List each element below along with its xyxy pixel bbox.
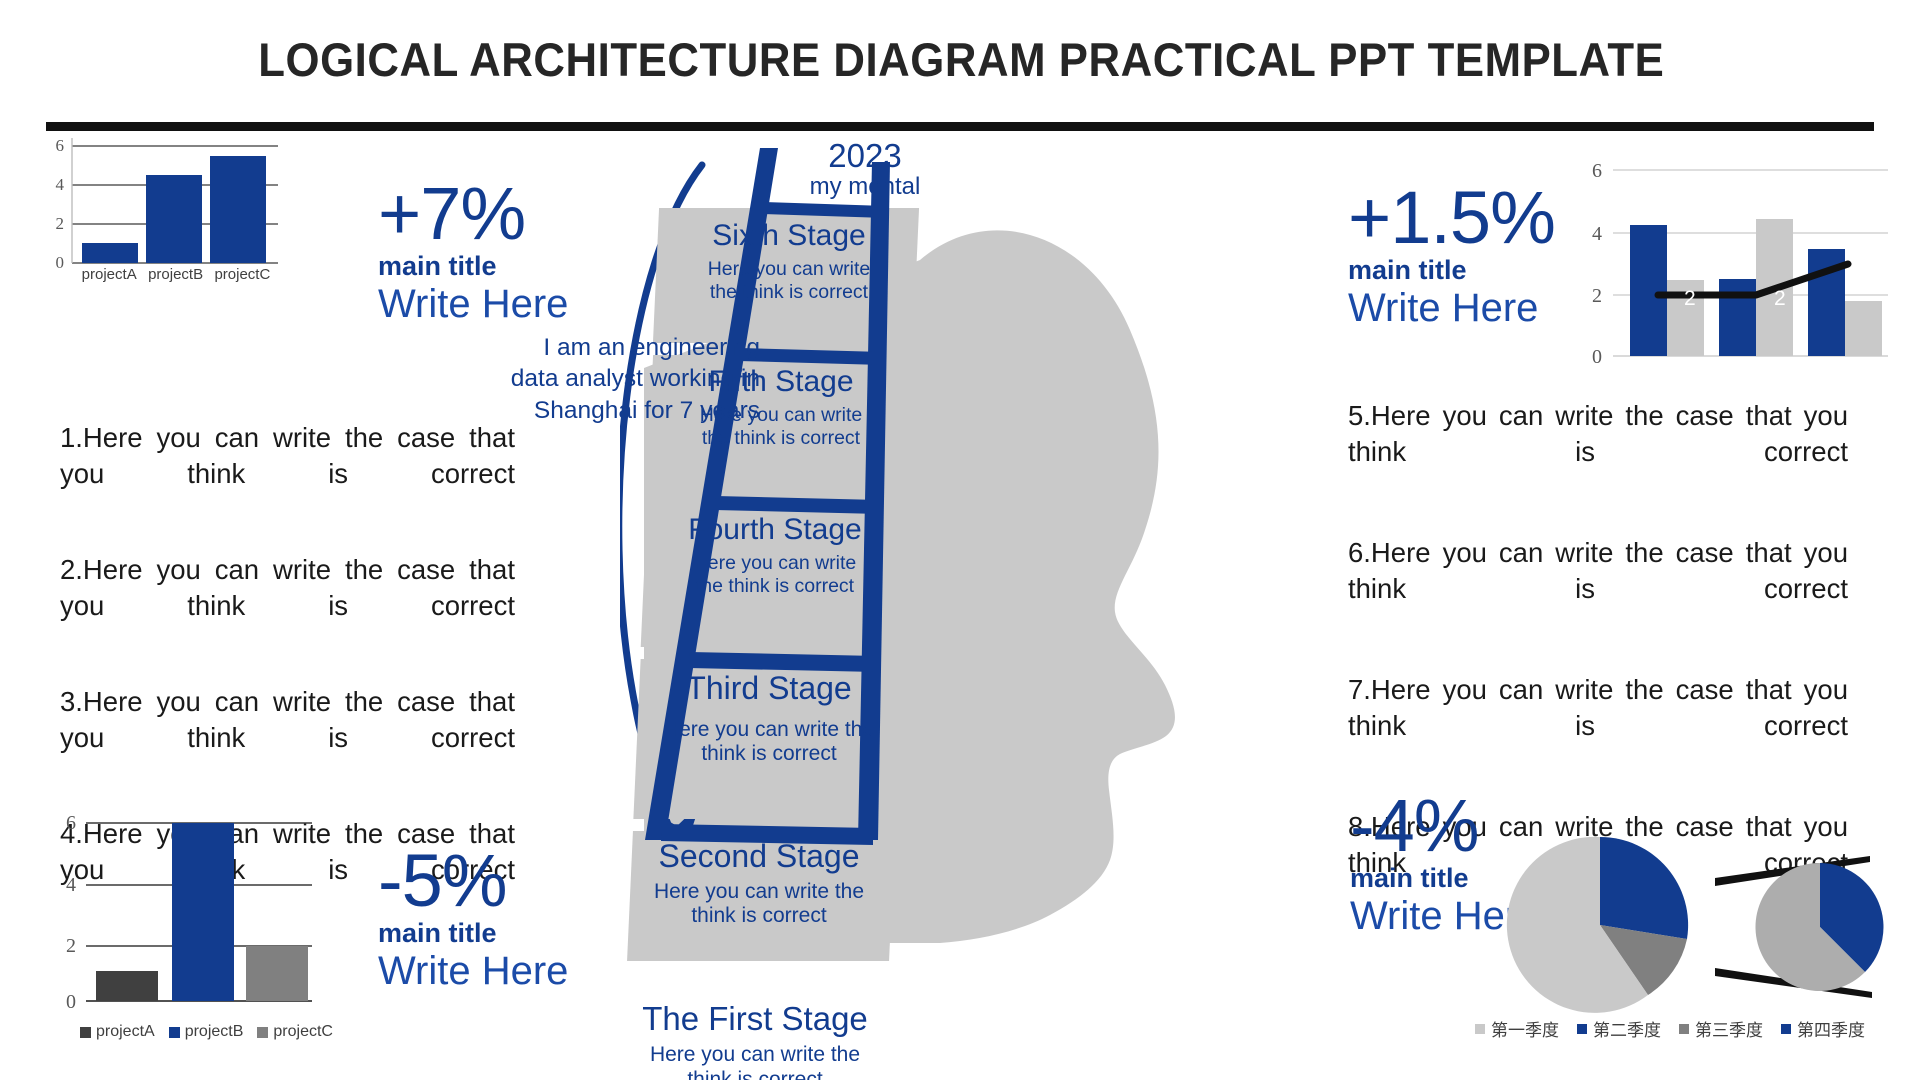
list-item: 5.Here you can write the case that you t… (1348, 398, 1848, 507)
legend-item: 第四季度 (1781, 1016, 1865, 1041)
chart-bottom-right-pie: 第一季度 第二季度 第三季度 第四季度 (1480, 820, 1900, 1060)
legend-label: 第一季度 (1491, 1016, 1559, 1041)
legend-label: projectA (96, 1023, 155, 1041)
chart-top-right-combo: 2 2 3 6 4 2 0 (1558, 148, 1898, 363)
stat-bottom-left-percent: -5% (378, 845, 568, 916)
svg-text:2: 2 (56, 214, 65, 233)
svg-text:2: 2 (1592, 285, 1602, 307)
ladder-step-title: The First Stage (620, 1002, 890, 1037)
stat-top-left: +7% main title Write Here (378, 178, 568, 327)
svg-text:4: 4 (66, 874, 76, 896)
list-item: 1.Here you can write the case that you t… (60, 420, 515, 529)
legend-swatch-icon (1781, 1024, 1791, 1034)
ladder-step-6: Sixth Stage Here you can write the think… (664, 220, 914, 303)
cat-label-projectB: projectB (148, 266, 203, 283)
legend-label: projectB (185, 1023, 244, 1041)
ladder-step-body: Here you can write the think is correct (620, 1043, 890, 1080)
legend-item: 第二季度 (1577, 1016, 1661, 1041)
ladder-step-3: Third Stage Here you can write the think… (640, 672, 898, 767)
stat-top-right-write-here: Write Here (1348, 286, 1555, 331)
ladder-diagram: 2023 my mental I am an engineering data … (620, 140, 1320, 1070)
ladder-step-title: Fourth Stage (648, 514, 902, 546)
ladder-step-body: Here you can write the think is correct (664, 258, 914, 304)
svg-text:2: 2 (1774, 287, 1786, 310)
list-item: 2.Here you can write the case that you t… (60, 552, 515, 661)
legend-label: 第二季度 (1593, 1016, 1661, 1041)
ladder-step-title: Third Stage (640, 672, 898, 706)
stat-bottom-left-write-here: Write Here (378, 949, 568, 994)
svg-text:0: 0 (56, 253, 65, 268)
svg-text:2: 2 (1684, 287, 1696, 310)
svg-text:6: 6 (66, 812, 76, 834)
ladder-year: 2023 (760, 138, 970, 174)
svg-text:6: 6 (1592, 160, 1602, 182)
stat-top-right: +1.5% main title Write Here (1348, 182, 1555, 331)
svg-text:3: 3 (1854, 270, 1866, 293)
stat-top-right-percent: +1.5% (1348, 182, 1555, 253)
stat-bottom-left-main-title: main title (378, 918, 568, 949)
ladder-step-1: The First Stage Here you can write the t… (620, 1002, 890, 1080)
slide-canvas: LOGICAL ARCHITECTURE DIAGRAM PRACTICAL P… (0, 0, 1920, 1080)
title-divider (46, 122, 1874, 131)
ladder-step-4: Fourth Stage Here you can write the thin… (648, 514, 902, 597)
stat-bottom-left: -5% main title Write Here (378, 845, 568, 994)
list-item: 7.Here you can write the case that you t… (1348, 672, 1848, 781)
legend-item: projectA (80, 1023, 155, 1041)
svg-text:4: 4 (1592, 223, 1602, 245)
list-item: 3.Here you can write the case that you t… (60, 684, 515, 793)
chart-top-left-bar: 6 4 2 0 projectA projectB projectC (26, 138, 286, 268)
ladder-step-title: Fifth Stage (656, 366, 906, 398)
stat-top-left-write-here: Write Here (378, 282, 568, 327)
pie-main (1507, 837, 1688, 1013)
legend-swatch-icon (1577, 1024, 1587, 1034)
legend-item: 第三季度 (1679, 1016, 1763, 1041)
ladder-step-body: Here you can write the think is correct (648, 552, 902, 598)
ladder-step-title: Sixth Stage (664, 220, 914, 252)
ladder-step-2: Second Stage Here you can write the thin… (630, 840, 888, 929)
legend-swatch-icon (1679, 1024, 1689, 1034)
legend-bottom-left-chart: projectA projectB projectC (80, 1023, 333, 1041)
ladder-year-block: 2023 my mental (760, 138, 970, 201)
legend-swatch-icon (169, 1027, 180, 1038)
legend-item: projectC (257, 1023, 333, 1041)
legend-label: projectC (273, 1023, 333, 1041)
ladder-step-body: Here you can write the think is correct (656, 404, 906, 450)
ladder-step-body: Here you can write the think is correct (640, 718, 898, 767)
legend-pie-chart: 第一季度 第二季度 第三季度 第四季度 (1440, 1016, 1900, 1041)
legend-swatch-icon (80, 1027, 91, 1038)
svg-text:0: 0 (66, 991, 76, 1013)
legend-item: 第一季度 (1475, 1016, 1559, 1041)
ladder-step-title: Second Stage (630, 840, 888, 874)
legend-item: projectB (169, 1023, 244, 1041)
stat-top-right-main-title: main title (1348, 255, 1555, 286)
svg-text:2: 2 (66, 935, 76, 957)
svg-text:0: 0 (1592, 346, 1602, 363)
ladder-subtitle: my mental (760, 174, 970, 200)
pie-secondary (1755, 863, 1883, 991)
legend-label: 第四季度 (1797, 1016, 1865, 1041)
legend-swatch-icon (1475, 1024, 1485, 1034)
ladder-step-5: Fifth Stage Here you can write the think… (656, 366, 906, 449)
list-item: 6.Here you can write the case that you t… (1348, 535, 1848, 644)
legend-label: 第三季度 (1695, 1016, 1763, 1041)
cat-label-projectC: projectC (214, 266, 270, 283)
page-title: LOGICAL ARCHITECTURE DIAGRAM PRACTICAL P… (69, 32, 1855, 87)
svg-text:6: 6 (56, 138, 65, 155)
stat-top-left-main-title: main title (378, 251, 568, 282)
stat-top-left-percent: +7% (378, 178, 568, 249)
ladder-step-body: Here you can write the think is correct (630, 880, 888, 929)
legend-swatch-icon (257, 1027, 268, 1038)
cat-label-projectA: projectA (82, 266, 137, 283)
svg-text:4: 4 (56, 175, 65, 194)
chart-bottom-left-bar: 6 4 2 0 projectA projectB projectC (34, 805, 354, 1045)
